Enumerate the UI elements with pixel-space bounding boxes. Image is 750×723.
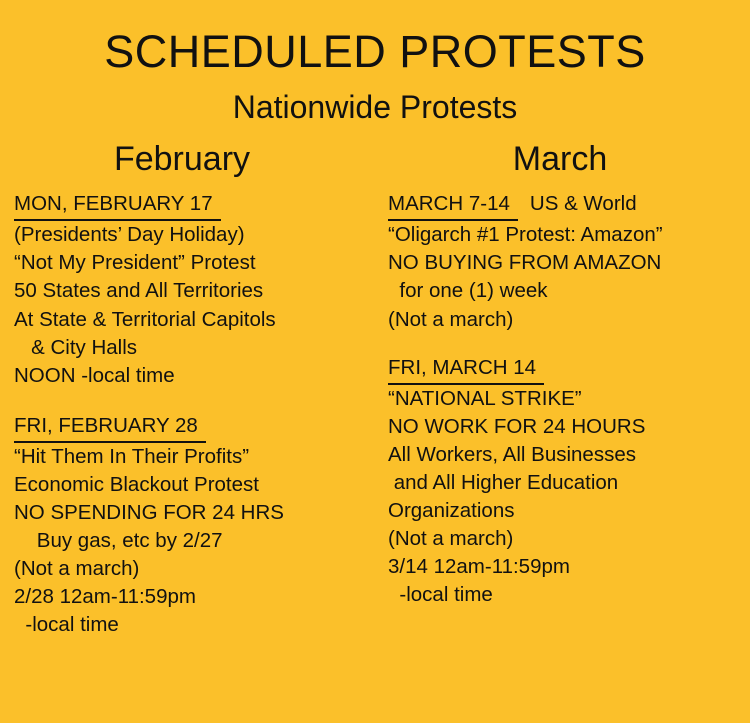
event-line: & City Halls xyxy=(14,334,380,362)
event-line: Economic Blackout Protest xyxy=(14,471,380,499)
event-block-feb-17: MON, FEBRUARY 17 (Presidents’ Day Holida… xyxy=(14,190,380,390)
event-heading: MON, FEBRUARY 17 xyxy=(14,190,221,221)
event-line: “Hit Them In Their Profits” xyxy=(14,443,380,471)
event-line: NO BUYING FROM AMAZON xyxy=(388,249,750,277)
event-line: “Oligarch #1 Protest: Amazon” xyxy=(388,221,750,249)
event-line: (Not a march) xyxy=(14,555,380,583)
event-line: Buy gas, etc by 2/27 xyxy=(14,527,380,555)
column-march: March MARCH 7-14US & World “Oligarch #1 … xyxy=(380,141,750,640)
event-block-feb-28: FRI, FEBRUARY 28 “Hit Them In Their Prof… xyxy=(14,412,380,640)
event-line: 2/28 12am-11:59pm xyxy=(14,583,380,611)
month-columns: February MON, FEBRUARY 17 (Presidents’ D… xyxy=(0,125,750,640)
month-heading-march: March xyxy=(388,141,750,190)
event-heading: MARCH 7-14 xyxy=(388,190,518,221)
event-line: All Workers, All Businesses xyxy=(388,441,750,469)
event-line: (Not a march) xyxy=(388,525,750,553)
event-line: NO SPENDING FOR 24 HRS xyxy=(14,499,380,527)
protest-poster: SCHEDULED PROTESTS Nationwide Protests F… xyxy=(0,0,750,723)
event-heading-row: MON, FEBRUARY 17 xyxy=(14,190,380,221)
event-line: 50 States and All Territories xyxy=(14,277,380,305)
event-line: “NATIONAL STRIKE” xyxy=(388,385,750,413)
event-heading-row: MARCH 7-14US & World xyxy=(388,190,750,221)
column-spacer xyxy=(388,334,750,354)
event-line: At State & Territorial Capitols xyxy=(14,306,380,334)
event-line: (Not a march) xyxy=(388,306,750,334)
event-line: 3/14 12am-11:59pm xyxy=(388,553,750,581)
event-block-march-7-14: MARCH 7-14US & World “Oligarch #1 Protes… xyxy=(388,190,750,333)
event-heading-suffix: US & World xyxy=(518,192,637,215)
event-line: NOON -local time xyxy=(14,362,380,390)
event-heading: FRI, MARCH 14 xyxy=(388,354,544,385)
event-line: for one (1) week xyxy=(388,277,750,305)
event-line: “Not My President” Protest xyxy=(14,249,380,277)
month-heading-february: February xyxy=(14,141,380,190)
event-line: -local time xyxy=(14,611,380,639)
event-heading: FRI, FEBRUARY 28 xyxy=(14,412,206,443)
event-line: Organizations xyxy=(388,497,750,525)
event-block-march-14: FRI, MARCH 14 “NATIONAL STRIKE” NO WORK … xyxy=(388,354,750,610)
event-line: (Presidents’ Day Holiday) xyxy=(14,221,380,249)
event-line: NO WORK FOR 24 HOURS xyxy=(388,413,750,441)
event-heading-row: FRI, MARCH 14 xyxy=(388,354,750,385)
event-line: -local time xyxy=(388,581,750,609)
page-title: SCHEDULED PROTESTS xyxy=(0,0,750,75)
event-line: and All Higher Education xyxy=(388,469,750,497)
page-subtitle: Nationwide Protests xyxy=(0,75,750,125)
event-heading-row: FRI, FEBRUARY 28 xyxy=(14,412,380,443)
column-february: February MON, FEBRUARY 17 (Presidents’ D… xyxy=(0,141,380,640)
